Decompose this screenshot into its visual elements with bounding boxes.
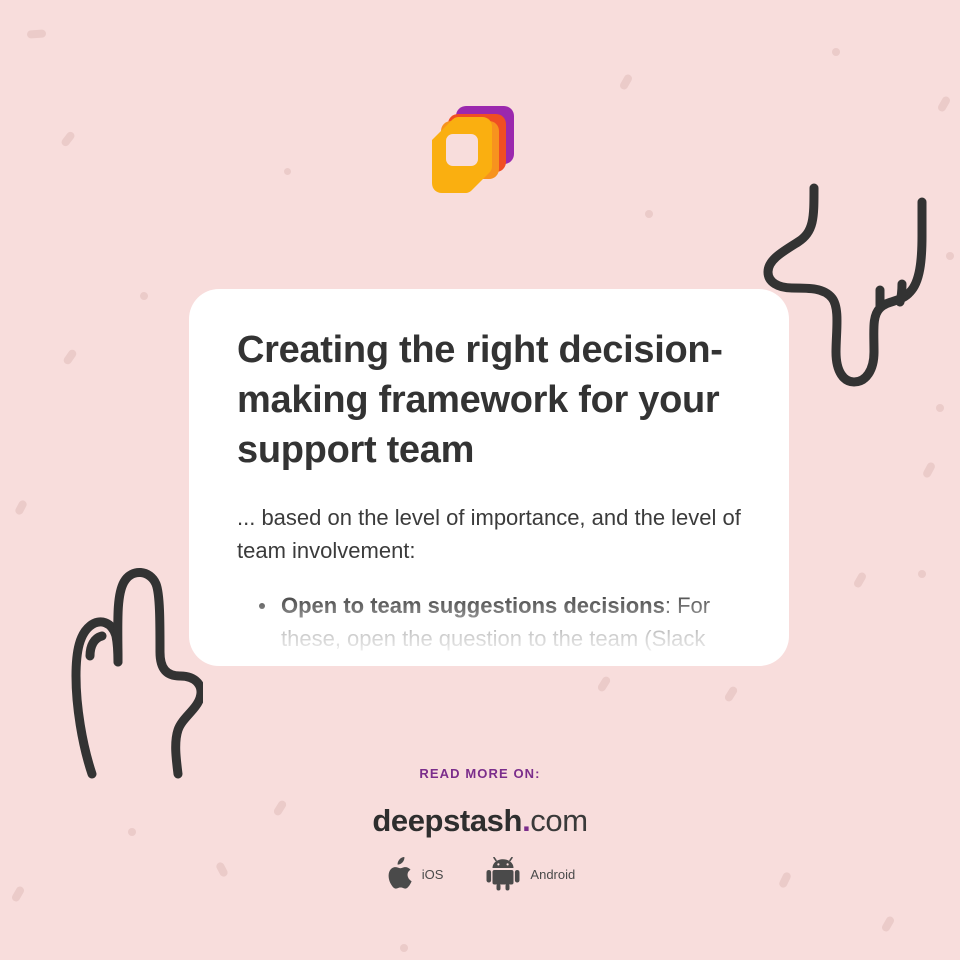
footer: READ MORE ON: deepstash.com iOS <box>0 766 960 891</box>
apple-icon <box>385 857 413 891</box>
confetti-speck <box>27 29 47 38</box>
store-badge-android[interactable]: Android <box>485 857 575 891</box>
store-label-ios: iOS <box>422 867 444 882</box>
deepstash-logo <box>430 104 516 196</box>
confetti-speck <box>937 95 952 113</box>
store-badges: iOS Android <box>0 857 960 891</box>
confetti-speck <box>946 252 954 260</box>
read-more-label: READ MORE ON: <box>0 766 960 781</box>
page-title: Creating the right decision-making frame… <box>237 325 741 475</box>
logo-cutout <box>446 134 478 166</box>
list-item: Open to team suggestions decisions: For … <box>259 589 741 655</box>
pointing-hand-illustration <box>28 566 203 781</box>
store-label-android: Android <box>530 867 575 882</box>
confetti-speck <box>619 73 634 91</box>
confetti-speck <box>936 404 944 412</box>
confetti-speck <box>853 571 868 589</box>
wordmark-brand: deepstash <box>372 803 522 838</box>
brand-wordmark: deepstash.com <box>0 803 960 839</box>
confetti-speck <box>60 130 76 148</box>
content-card: Creating the right decision-making frame… <box>189 289 789 666</box>
wordmark-tld: com <box>530 803 587 838</box>
confetti-speck <box>881 915 896 933</box>
confetti-speck <box>645 210 653 218</box>
card-subtitle: ... based on the level of importance, an… <box>237 501 741 567</box>
confetti-speck <box>139 291 148 300</box>
confetti-speck <box>283 167 292 176</box>
bullet-lead-text: Open to team suggestions decisions <box>281 593 665 618</box>
bullet-list: Open to team suggestions decisions: For … <box>237 589 741 655</box>
confetti-speck <box>832 48 840 56</box>
poster-canvas: Creating the right decision-making frame… <box>0 0 960 960</box>
confetti-speck <box>922 461 937 479</box>
confetti-speck <box>918 570 926 578</box>
android-icon <box>485 857 521 891</box>
confetti-speck <box>596 675 611 693</box>
confetti-speck <box>62 348 78 366</box>
confetti-speck <box>723 685 738 703</box>
card-content: Creating the right decision-making frame… <box>189 289 789 666</box>
confetti-speck <box>14 499 28 516</box>
confetti-speck <box>400 944 408 952</box>
store-badge-ios[interactable]: iOS <box>385 857 444 891</box>
